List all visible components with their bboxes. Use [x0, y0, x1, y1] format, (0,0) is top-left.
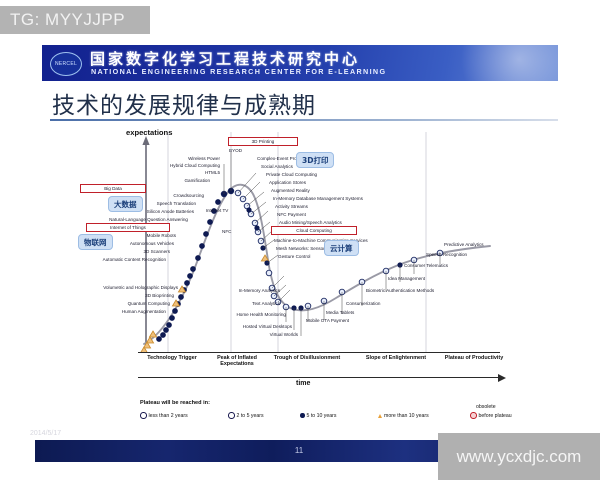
- hollow-circle-icon: [140, 412, 147, 419]
- y-axis-label: expectations: [126, 128, 172, 137]
- tg-tag-overlay: TG: MYYJJPP: [0, 6, 150, 34]
- tech-label-predictive-analytics: Predictive Analytics: [444, 242, 484, 247]
- tech-label-biometric-authentication-methods: Biometric Authentication Methods: [366, 288, 434, 293]
- tech-label-consumer-telematics: Consumer Telematics: [404, 263, 448, 268]
- tech-label-nfc: NFC: [222, 229, 231, 234]
- tech-label-speech-recognition: Speech Recognition: [426, 252, 467, 257]
- filled-circle-icon: [300, 413, 305, 418]
- phase-technology-trigger: Technology Trigger: [140, 355, 204, 361]
- legend-row: less than 2 years 2 to 5 years 5 to 10 y…: [140, 412, 500, 422]
- crossed-circle-icon: [470, 412, 477, 419]
- logo-text: NERCEL: [55, 61, 77, 67]
- hype-cycle-chart: expectations Wireless Power Hybrid Cloud…: [138, 130, 500, 352]
- legend-item-more-than-10-years: more than 10 years: [378, 412, 429, 420]
- phase-plateau-of-productivity: Plateau of Productivity: [444, 355, 504, 361]
- legend-item-2-to-5-years: 2 to 5 years: [228, 412, 264, 420]
- tech-label-internet-tv: Internet TV: [200, 208, 234, 214]
- phase-slope-of-enlightenment: Slope of Enlightenment: [346, 355, 446, 361]
- page-title: 技术的发展规律与成熟期: [52, 86, 316, 120]
- tech-label-hosted-virtual-desktops: Hosted Virtual Desktops: [190, 324, 292, 329]
- callout-cloud-computing[interactable]: 云计算: [324, 240, 359, 256]
- legend-item-obsolete-top: obsolete: [476, 404, 496, 410]
- tech-label-virtual-worlds: Virtual Worlds: [222, 332, 298, 337]
- tech-label-in-memory-analytics: In-Memory Analytics: [196, 288, 280, 293]
- tech-label-automatic-content-recognition: Automatic Content Recognition: [60, 257, 166, 262]
- tech-label-mesh-networks-sensor: Mesh Networks: Sensor: [276, 246, 325, 251]
- tech-label-nl-question-answering: Natural-Language Question Answering: [48, 217, 188, 222]
- x-axis-label: time: [296, 380, 310, 387]
- tech-label-hybrid-cloud-computing: Hybrid Cloud Computing: [76, 163, 220, 168]
- tech-label-augmented-reality: Augmented Reality: [271, 188, 310, 193]
- tech-label-idea-management: Idea Management: [388, 276, 425, 281]
- title-divider: [50, 119, 558, 121]
- tech-label-private-cloud-computing: Private Cloud Computing: [266, 172, 317, 177]
- tech-label-in-memory-dbms: In-Memory Database Management Systems: [273, 196, 363, 201]
- slide-date: 2014/5/17: [30, 430, 61, 437]
- phase-trough-of-disillusionment: Trough of Disillusionment: [270, 355, 344, 361]
- legend-item-5-to-10-years: 5 to 10 years: [300, 412, 337, 420]
- x-axis-rule: [138, 377, 500, 378]
- tech-label-text-analytics: Text Analytics: [210, 301, 280, 306]
- slide-canvas: NERCEL 国家数字化学习工程技术研究中心 NATIONAL ENGINEER…: [0, 22, 600, 437]
- tech-label-3d-scanners: 3D Scanners: [108, 249, 170, 254]
- tech-label-gamification: Gamification: [100, 178, 210, 183]
- nercel-logo-icon: NERCEL: [50, 52, 82, 76]
- legend-item-obsolete-before-plateau: before plateau: [470, 412, 512, 420]
- phase-peak-of-inflated-expectations: Peak of Inflated Expectations: [204, 355, 270, 368]
- site-watermark: www.ycxdjc.com: [438, 433, 600, 480]
- tech-label-html5: HTML5: [118, 170, 220, 175]
- banner-english-title: NATIONAL ENGINEERING RESEARCH CENTER FOR…: [91, 67, 386, 76]
- x-axis-top-rule: [138, 352, 500, 353]
- tech-label-mobile-ota-payment: Mobile OTA Payment: [306, 318, 349, 323]
- callout-big-data[interactable]: 大数据: [108, 196, 143, 212]
- tech-label-3d-bioprinting: 3D Bioprinting: [80, 293, 174, 298]
- callout-internet-of-things[interactable]: 物联网: [78, 234, 113, 250]
- triangle-icon: [378, 414, 382, 418]
- tech-label-big-data-highlight[interactable]: Big Data: [80, 184, 146, 193]
- tech-label-social-analytics: Social Analytics: [261, 164, 293, 169]
- tech-label-activity-streams: Activity Streams: [275, 204, 308, 209]
- tech-label-3d-printing-highlight[interactable]: 3D Printing: [228, 137, 298, 146]
- tech-label-quantum-computing: Quantum Computing: [76, 301, 170, 306]
- legend-title: Plateau will be reached in:: [140, 400, 210, 406]
- tech-label-gesture-control: Gesture Control: [278, 254, 310, 259]
- tech-label-media-tablets: Media Tablets: [326, 310, 354, 315]
- x-axis-arrow-icon: [498, 374, 506, 382]
- tech-label-byod: BYOD: [229, 148, 242, 153]
- callout-3d-printing[interactable]: 3D打印: [296, 152, 334, 168]
- tech-label-human-augmentation: Human Augmentation: [76, 309, 166, 314]
- institution-banner: NERCEL 国家数字化学习工程技术研究中心 NATIONAL ENGINEER…: [42, 45, 558, 81]
- legend-item-less-than-2-years: less than 2 years: [140, 412, 188, 420]
- tech-label-wireless-power: Wireless Power: [90, 156, 220, 161]
- tech-label-volumetric-holographic-displays: Volumetric and Holographic Displays: [54, 285, 178, 290]
- tech-label-consumerization: Consumerization: [346, 301, 380, 306]
- hollow-circle-icon: [228, 412, 235, 419]
- banner-chinese-title: 国家数字化学习工程技术研究中心: [90, 48, 360, 69]
- tech-label-nfc-payment: NFC Payment: [277, 212, 306, 217]
- tech-label-internet-of-things-highlight[interactable]: Internet of Things: [86, 223, 170, 232]
- tech-label-application-stores: Application Stores: [269, 180, 306, 185]
- tech-label-home-health-monitoring: Home Health Monitoring: [186, 312, 286, 317]
- tech-label-audio-mining-speech-analytics: Audio Mining/Speech Analytics: [279, 220, 342, 225]
- tech-label-cloud-computing-highlight[interactable]: Cloud Computing: [271, 226, 357, 235]
